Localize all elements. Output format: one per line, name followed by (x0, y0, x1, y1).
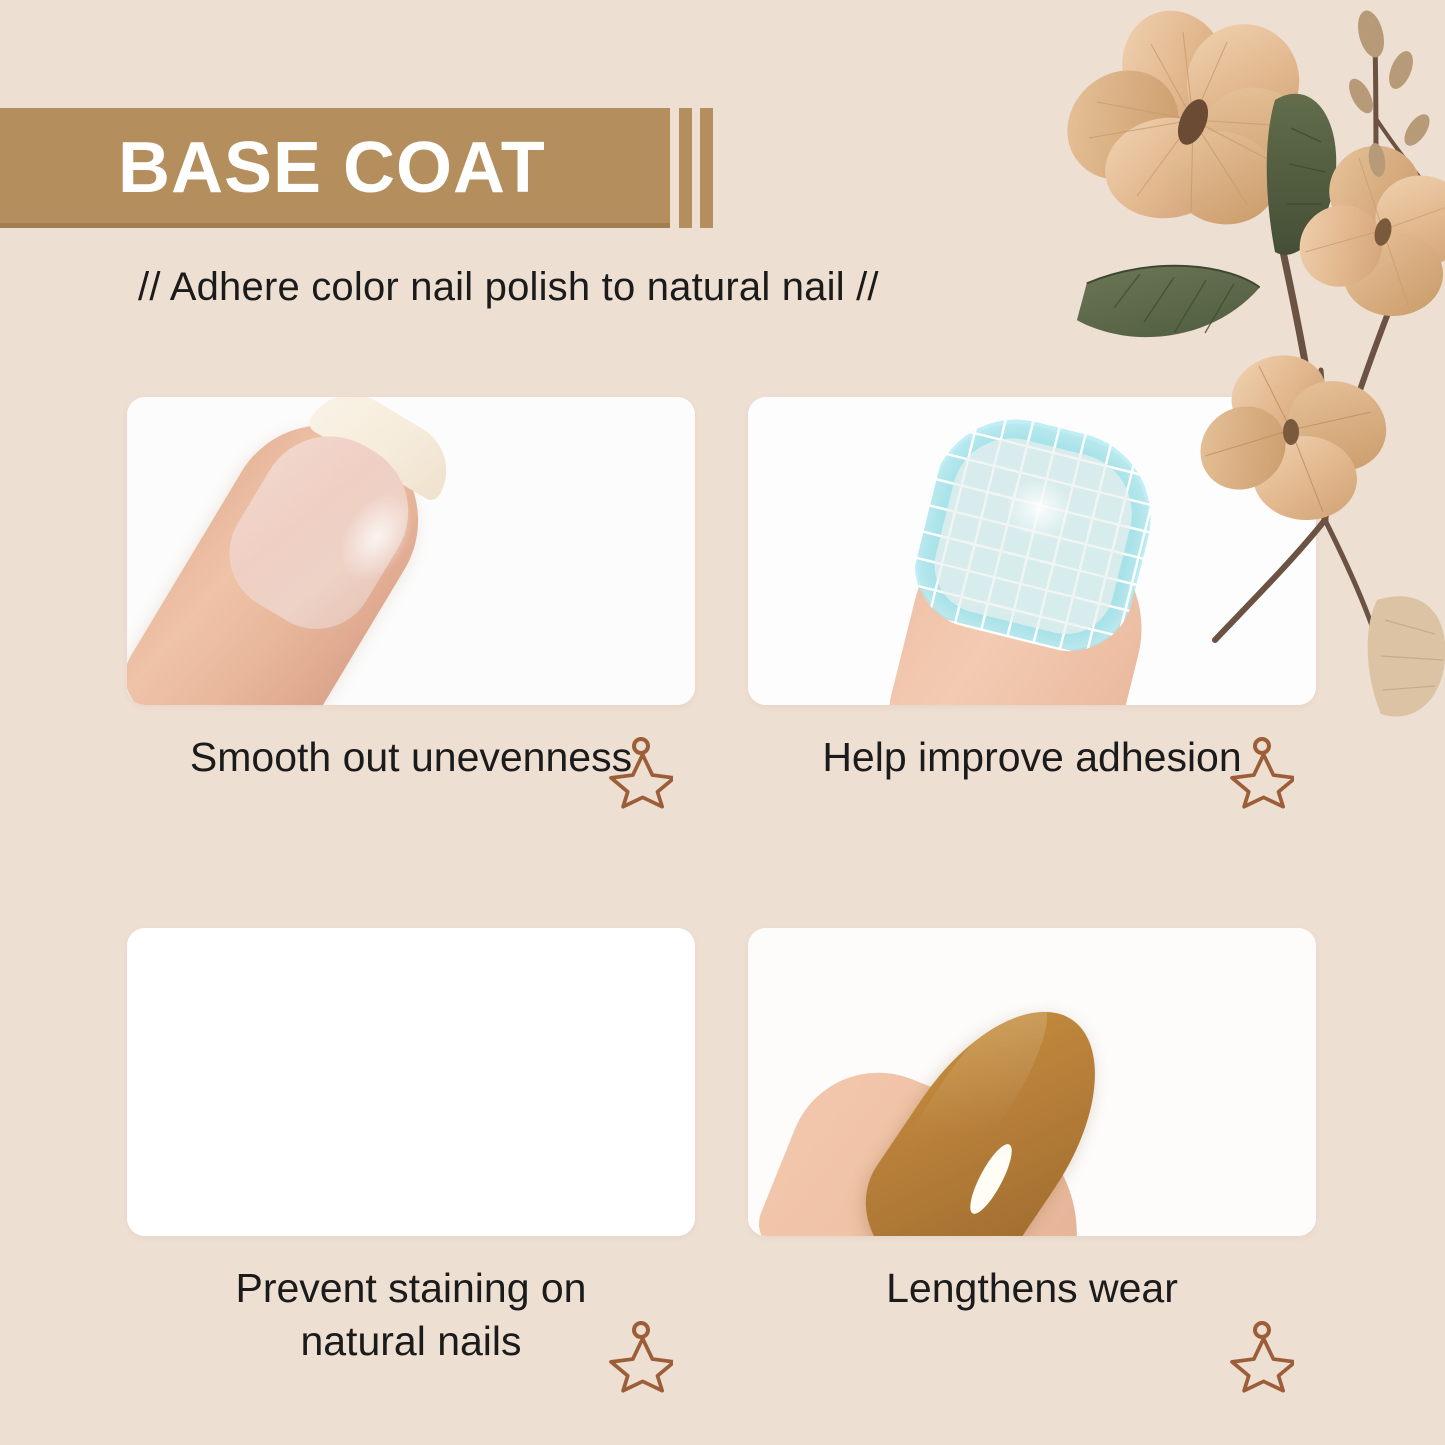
flower-bloom-right (1284, 133, 1445, 316)
feature-grid: Smooth out unevenness (127, 397, 1313, 1367)
feature-row-2: Prevent staining on natural nails Leng (127, 928, 1313, 1367)
caption-line-1: Smooth out unevenness (127, 731, 695, 783)
flower-bloom-large (1045, 0, 1330, 234)
flower-buds (1344, 8, 1434, 178)
feature-image-adhesion-grid (748, 397, 1316, 705)
feature-card-help-improve-adhesion: Help improve adhesion (748, 397, 1316, 783)
feature-image-prevent-staining (127, 928, 695, 1236)
feature-card-smooth-out-unevenness: Smooth out unevenness (127, 397, 695, 783)
feature-row-1: Smooth out unevenness (127, 397, 1313, 783)
subtitle: // Adhere color nail polish to natural n… (138, 265, 879, 310)
flower-leaves (1076, 94, 1337, 362)
caption-line-1: Prevent staining on (127, 1262, 695, 1314)
header-bar: BASE COAT (0, 108, 670, 228)
feature-image-natural-nail (127, 397, 695, 705)
header-accent-stripe-2 (700, 108, 713, 228)
feature-image-painted-nail (748, 928, 1316, 1236)
page-title: BASE COAT (118, 132, 546, 204)
caption-line-2: natural nails (127, 1315, 695, 1367)
flower-seed-pod (1368, 596, 1445, 716)
feature-card-prevent-staining: Prevent staining on natural nails (127, 928, 695, 1367)
feature-caption: Help improve adhesion (748, 731, 1316, 783)
caption-line-1: Help improve adhesion (748, 731, 1316, 783)
star-charm-icon (1230, 1321, 1294, 1395)
header-accent-stripe-1 (679, 108, 692, 228)
infographic-page: BASE COAT // Adhere color nail polish to… (0, 0, 1445, 1445)
feature-caption: Prevent staining on natural nails (127, 1262, 695, 1367)
feature-caption: Lengthens wear (748, 1262, 1316, 1314)
feature-card-lengthens-wear: Lengthens wear (748, 928, 1316, 1367)
feature-caption: Smooth out unevenness (127, 731, 695, 783)
caption-line-1: Lengthens wear (748, 1262, 1316, 1314)
